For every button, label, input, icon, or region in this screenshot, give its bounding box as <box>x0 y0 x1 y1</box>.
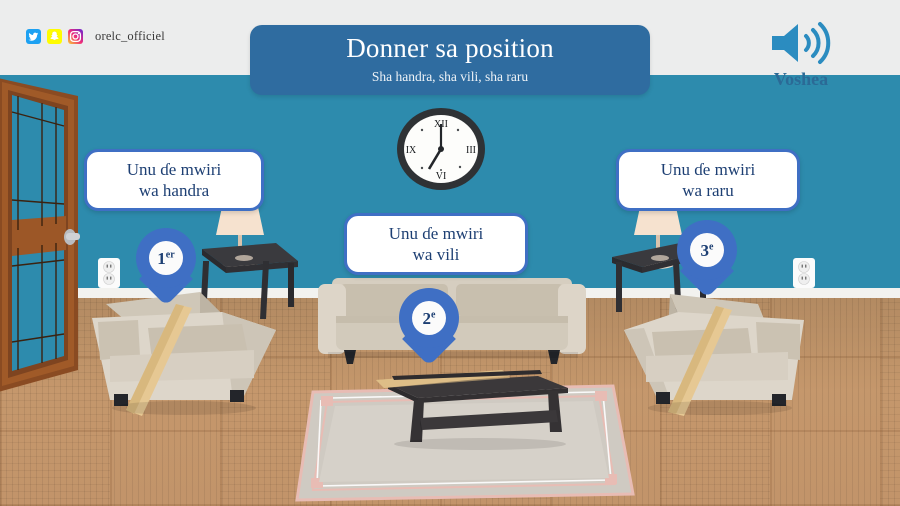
callout-third: Unu ɗe mwiri wa raru <box>616 149 800 211</box>
snapchat-icon[interactable] <box>47 29 62 44</box>
callout-first: Unu ɗe mwiri wa handra <box>84 149 264 211</box>
svg-text:IX: IX <box>406 145 417 156</box>
coffee-table <box>362 370 572 452</box>
page-subtitle: Sha handra, sha vili, sha raru <box>372 69 528 85</box>
position-pin-2[interactable]: 2e <box>399 288 459 364</box>
pin-disc: 2e <box>412 301 446 335</box>
callout-third-line1: Unu ɗe mwiri <box>661 159 755 180</box>
callout-third-line2: wa raru <box>682 180 733 201</box>
callout-second: Unu ɗe mwiri wa vili <box>344 213 528 275</box>
armchair-right <box>608 282 808 416</box>
position-pin-3[interactable]: 3e <box>677 220 737 296</box>
slide-canvas: XII III VI IX <box>0 0 900 506</box>
callout-first-line1: Unu ɗe mwiri <box>127 159 221 180</box>
social-links: orelc_officiel <box>26 29 165 44</box>
social-handle: orelc_officiel <box>95 29 165 44</box>
brand-block[interactable]: Voshea <box>746 18 856 90</box>
callout-second-line1: Unu ɗe mwiri <box>389 223 483 244</box>
pin-label-3: 3e <box>701 242 714 259</box>
page-title: Donner sa position <box>346 35 554 62</box>
header-bar: orelc_officiel Donner sa position Sha ha… <box>0 0 900 75</box>
pin-label-1: 1er <box>157 250 174 267</box>
wooden-door <box>0 70 90 392</box>
pin-disc: 1er <box>149 241 183 275</box>
pin-label-2: 2e <box>423 310 436 327</box>
slide-title-card: Donner sa position Sha handra, sha vili,… <box>250 25 650 95</box>
callout-second-line2: wa vili <box>413 244 460 265</box>
brand-name: Voshea <box>746 69 856 90</box>
svg-text:VI: VI <box>436 171 447 182</box>
instagram-icon[interactable] <box>68 29 83 44</box>
position-pin-1[interactable]: 1er <box>136 228 196 304</box>
wall-clock: XII III VI IX <box>396 107 486 191</box>
twitter-icon[interactable] <box>26 29 41 44</box>
pin-disc: 3e <box>690 233 724 267</box>
callout-first-line2: wa handra <box>139 180 209 201</box>
svg-text:III: III <box>466 145 476 156</box>
